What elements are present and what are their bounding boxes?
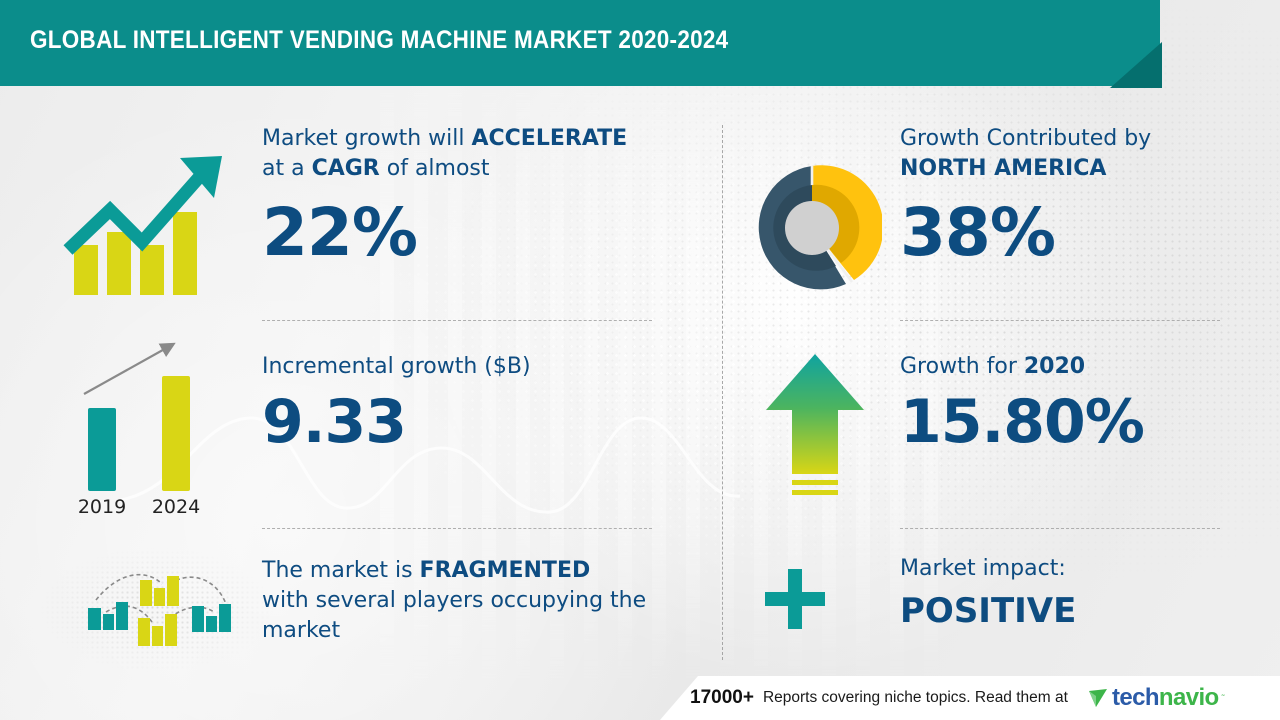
north-america-block: Growth Contributed by NORTH AMERICA 38% bbox=[900, 124, 1230, 268]
up-arrow-icon bbox=[760, 348, 870, 508]
donut-chart-icon bbox=[742, 158, 882, 298]
technavio-logo[interactable]: technavio ˜ bbox=[1087, 684, 1225, 712]
growth-2020-lead: Growth for 2020 bbox=[900, 352, 1240, 382]
page-title: GLOBAL INTELLIGENT VENDING MACHINE MARKE… bbox=[30, 26, 728, 55]
fragmented-block: The market is FRAGMENTED with several pl… bbox=[262, 556, 682, 646]
footer-report-count: 17000+ bbox=[690, 687, 754, 709]
incremental-growth-value: 9.33 bbox=[262, 390, 662, 454]
bar-label-2019: 2019 bbox=[78, 496, 126, 518]
cagr-block: Market growth will ACCELERATE at a CAGR … bbox=[262, 124, 662, 268]
market-impact-block: Market impact: POSITIVE bbox=[900, 554, 1230, 632]
growth-2020-plain: Growth for bbox=[900, 354, 1024, 379]
fragmented-lead: The market is FRAGMENTED with several pl… bbox=[262, 556, 682, 646]
plus-icon bbox=[762, 566, 828, 632]
cagr-lead-plain-1: Market growth will bbox=[262, 126, 471, 151]
fragmented-plain-2: with several players occupying the marke… bbox=[262, 588, 646, 643]
cagr-lead-bold-cagr: CAGR bbox=[312, 156, 380, 181]
fragmented-plain-1: The market is bbox=[262, 558, 420, 583]
divider-right-top bbox=[900, 320, 1220, 321]
incremental-growth-block: Incremental growth ($B) 9.33 bbox=[262, 352, 662, 454]
footer-content: 17000+ Reports covering niche topics. Re… bbox=[690, 676, 1280, 720]
bar-label-2024: 2024 bbox=[152, 496, 200, 518]
incremental-growth-label: Incremental growth ($B) bbox=[262, 352, 662, 382]
footer-tagline: Reports covering niche topics. Read them… bbox=[763, 689, 1068, 707]
logo-text-tech: tech bbox=[1112, 684, 1159, 711]
market-impact-label: Market impact: bbox=[900, 554, 1230, 584]
divider-left-top bbox=[262, 320, 652, 321]
fragmented-bold: FRAGMENTED bbox=[420, 558, 591, 583]
north-america-value: 38% bbox=[900, 198, 1230, 268]
infographic-canvas: GLOBAL INTELLIGENT VENDING MACHINE MARKE… bbox=[0, 0, 1280, 720]
cagr-lead-bold-accelerate: ACCELERATE bbox=[471, 126, 627, 151]
north-america-lead: Growth Contributed by NORTH AMERICA bbox=[900, 124, 1230, 184]
cagr-lead: Market growth will ACCELERATE at a CAGR … bbox=[262, 124, 662, 184]
cagr-lead-plain-3: of almost bbox=[380, 156, 490, 181]
divider-right-bottom bbox=[900, 528, 1220, 529]
column-divider bbox=[722, 125, 723, 660]
market-impact-value: POSITIVE bbox=[900, 590, 1230, 632]
technavio-wordmark: technavio bbox=[1112, 684, 1219, 712]
north-america-bold: NORTH AMERICA bbox=[900, 156, 1106, 181]
buildings-network-icon bbox=[66, 556, 251, 656]
north-america-plain: Growth Contributed by bbox=[900, 126, 1151, 151]
cagr-lead-plain-2: at a bbox=[262, 156, 312, 181]
bar-comparison-icon: 2019 2024 bbox=[66, 330, 226, 520]
growth-chart-icon bbox=[62, 150, 237, 300]
logo-text-navio: navio bbox=[1159, 684, 1219, 711]
paper-plane-icon bbox=[1087, 686, 1109, 710]
cagr-value: 22% bbox=[262, 198, 662, 268]
logo-trademark: ˜ bbox=[1222, 693, 1225, 703]
divider-left-bottom bbox=[262, 528, 652, 529]
growth-2020-block: Growth for 2020 15.80% bbox=[900, 352, 1240, 454]
growth-2020-bold: 2020 bbox=[1024, 354, 1085, 379]
growth-2020-value: 15.80% bbox=[900, 390, 1240, 454]
